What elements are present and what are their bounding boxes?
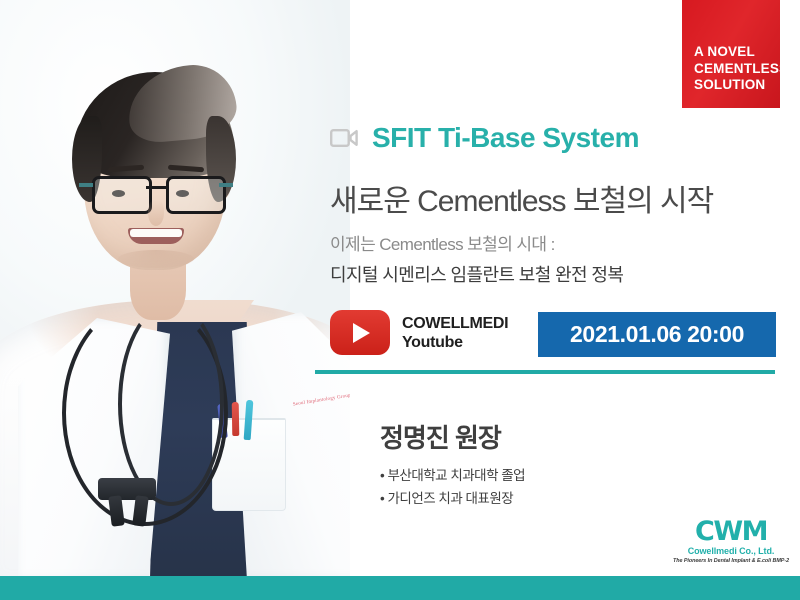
dentist-portrait-photo: Seoul Implantology Group [0, 0, 350, 578]
broadcast-datetime-badge: 2021.01.06 20:00 [538, 312, 776, 357]
product-title: SFIT Ti-Base System [372, 122, 639, 154]
eyeglass-lens-left [92, 176, 152, 214]
poster-content: SFIT Ti-Base System 새로운 Cementless 보철의 시… [330, 0, 800, 578]
subtitle-line-2: 디지털 시멘리스 임플란트 보철 완전 정복 [330, 261, 623, 287]
eyeglass-temple-right [219, 183, 233, 187]
page-headline: 새로운 Cementless 보철의 시작 [330, 176, 713, 220]
eyeglass-bridge [146, 186, 166, 189]
cowellmedi-logo: CWM Cowellmedi Co., Ltd. The Pioneers In… [670, 518, 792, 565]
channel-name-line-2: Youtube [402, 333, 508, 352]
webinar-poster: Seoul Implantology Group A NO [0, 0, 800, 600]
nose [148, 200, 164, 226]
section-divider [315, 370, 775, 374]
chin-shadow [118, 250, 194, 268]
logo-wordmark: CWM [670, 518, 792, 546]
mouth [128, 228, 184, 244]
youtube-channel-row[interactable]: COWELLMEDI Youtube [330, 310, 508, 355]
subtitle-line-1: 이제는 Cementless 보철의 시대 : [330, 230, 555, 255]
pen-red [232, 402, 240, 436]
bottom-accent-bar [0, 576, 800, 600]
teeth [130, 229, 182, 237]
logo-company-name: Cowellmedi Co., Ltd. [670, 546, 792, 557]
youtube-channel-label: COWELLMEDI Youtube [402, 314, 508, 352]
product-title-row: SFIT Ti-Base System [330, 122, 639, 154]
channel-name-line-1: COWELLMEDI [402, 314, 508, 333]
eyeglass-lens-right [166, 176, 226, 214]
credential-item: • 가디언즈 치과 대표원장 [380, 487, 525, 510]
eyeglass-temple-left [79, 183, 93, 187]
loupe-strap-inner [118, 302, 224, 506]
credential-item: • 부산대학교 치과대학 졸업 [380, 464, 525, 487]
speaker-credentials: • 부산대학교 치과대학 졸업 • 가디언즈 치과 대표원장 [380, 464, 525, 510]
youtube-play-icon[interactable] [330, 310, 390, 355]
speaker-name: 정명진 원장 [380, 418, 501, 455]
video-camera-icon [330, 128, 358, 148]
logo-tagline: The Pioneers In Dental Implant & E.coli … [670, 557, 792, 565]
